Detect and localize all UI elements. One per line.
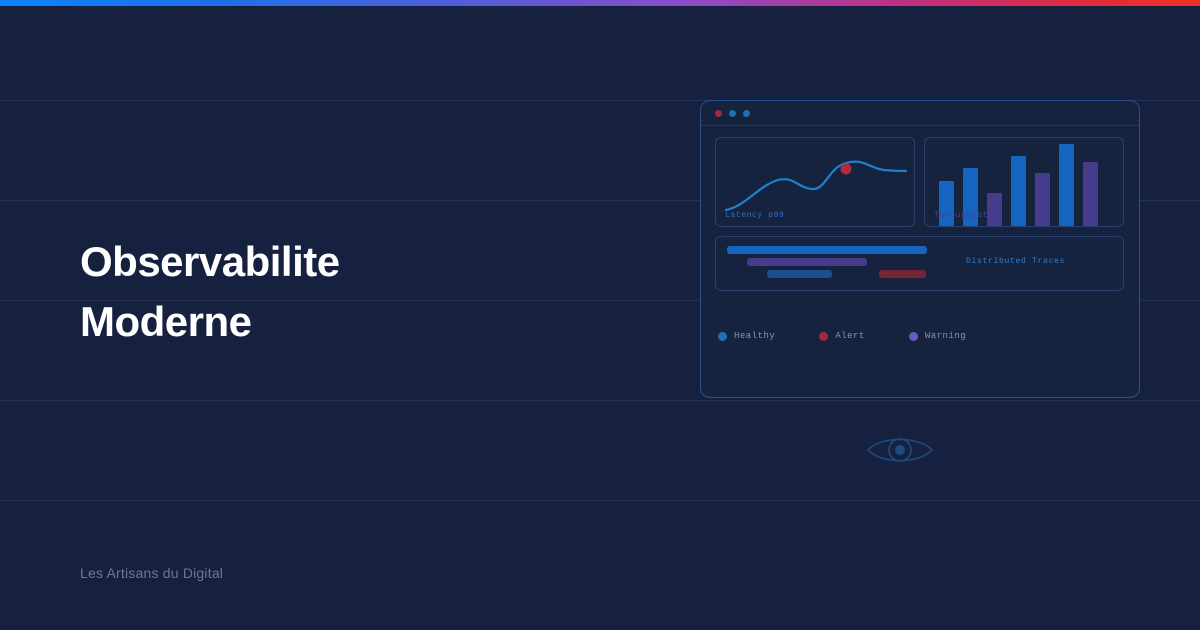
hero-heading: Observabilite Moderne: [80, 232, 340, 352]
bar: [1011, 156, 1026, 226]
trace-span-1: [727, 246, 927, 254]
brand-name: Les Artisans du Digital: [80, 565, 223, 581]
latency-card-label: Latency p99: [725, 211, 784, 220]
legend-dot-warning: [909, 332, 918, 341]
legend-label-alert: Alert: [835, 331, 865, 341]
page-title-line1: Observabilite: [80, 238, 340, 285]
trace-span-4: [879, 270, 926, 278]
dashboard-window: Latency p99 Throughput: [700, 100, 1140, 398]
legend-item-healthy[interactable]: Healthy: [718, 331, 775, 341]
top-gradient-bar: [0, 0, 1200, 6]
legend-item-warning[interactable]: Warning: [909, 331, 966, 341]
bar: [1035, 173, 1050, 226]
window-dot-close[interactable]: [715, 110, 722, 117]
trace-span-3: [767, 270, 832, 278]
alert-point: [841, 164, 852, 175]
window-dot-minimize[interactable]: [729, 110, 736, 117]
throughput-card[interactable]: Throughput: [924, 137, 1124, 227]
status-legend: Healthy Alert Warning: [718, 331, 966, 341]
page-title-line2: Moderne: [80, 292, 340, 352]
traces-card[interactable]: Distributed Traces: [715, 236, 1124, 291]
bar: [987, 193, 1002, 226]
latency-card[interactable]: Latency p99: [715, 137, 915, 227]
bar: [1083, 162, 1098, 226]
bar: [1059, 144, 1074, 226]
poster-canvas: Observabilite Moderne Les Artisans du Di…: [0, 0, 1200, 630]
window-dot-maximize[interactable]: [743, 110, 750, 117]
dashboard-body: Latency p99 Throughput: [701, 126, 1139, 291]
traces-card-label: Distributed Traces: [966, 257, 1065, 266]
dashboard-top-row: Latency p99 Throughput: [715, 137, 1125, 227]
legend-label-healthy: Healthy: [734, 331, 775, 341]
legend-label-warning: Warning: [925, 331, 966, 341]
trace-span-2: [747, 258, 867, 266]
window-titlebar: [701, 101, 1139, 126]
legend-item-alert[interactable]: Alert: [819, 331, 865, 341]
eye-icon: [866, 430, 934, 470]
grid-line: [0, 400, 1200, 401]
legend-dot-alert: [819, 332, 828, 341]
legend-dot-healthy: [718, 332, 727, 341]
grid-line: [0, 500, 1200, 501]
throughput-card-label: Throughput: [934, 211, 988, 220]
